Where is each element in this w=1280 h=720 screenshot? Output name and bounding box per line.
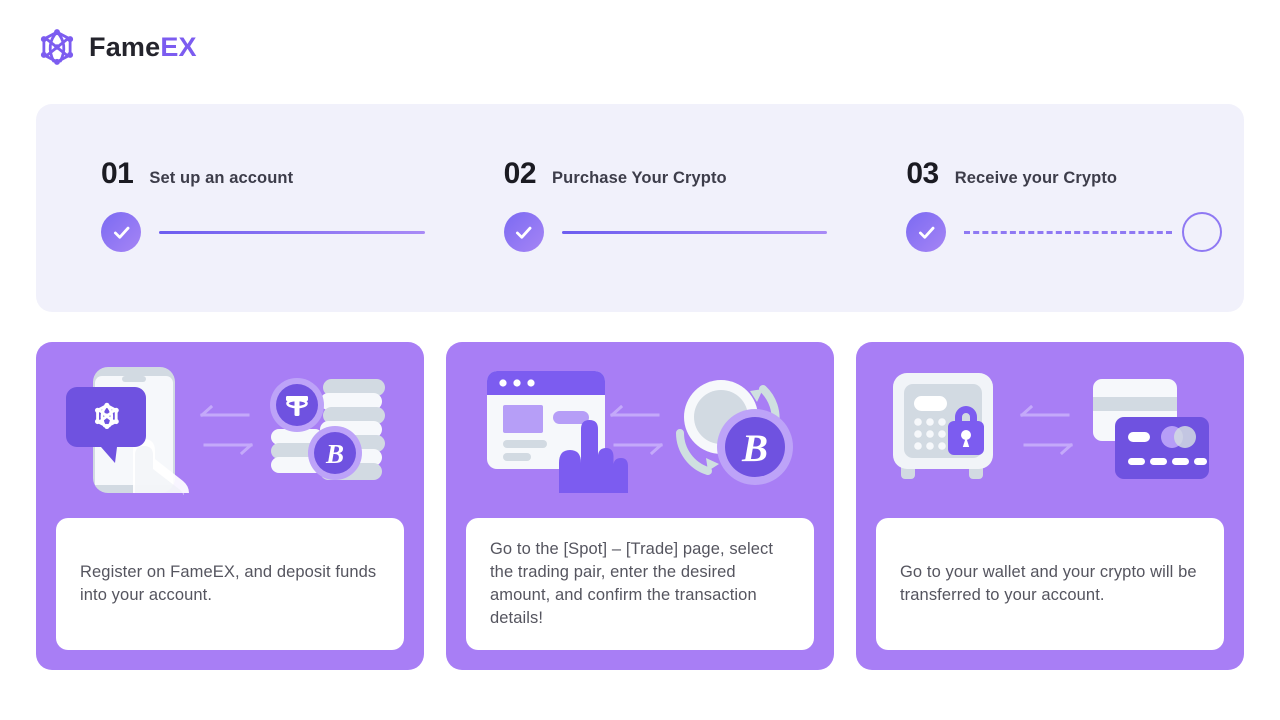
brand-name: FameEX: [89, 34, 197, 61]
step-01[interactable]: 01 Set up an account: [36, 104, 439, 312]
check-icon: [906, 212, 946, 252]
card-step-02-text: Go to the [Spot] – [Trade] page, select …: [490, 538, 790, 629]
card-step-01-note: Register on FameEX, and deposit funds in…: [56, 518, 404, 650]
bitcoin-coin-icon: B: [308, 426, 362, 480]
bitcoin-coin-icon: B: [717, 409, 793, 485]
step-03-number: 03: [906, 157, 938, 191]
step-01-connector: [159, 231, 425, 234]
step-03-track: [906, 212, 1244, 252]
step-03[interactable]: 03 Receive your Crypto: [841, 104, 1244, 312]
step-02-title: Purchase Your Crypto: [552, 169, 727, 188]
exchange-arrows-icon: [202, 407, 251, 453]
step-01-header: 01 Set up an account: [101, 157, 293, 191]
progress-steps-panel: 01 Set up an account 02 Purchase Your: [36, 104, 1244, 312]
card-step-02[interactable]: B Go to the [Spot] – [Trade] page, selec…: [446, 342, 834, 670]
infographic-page: FameEX 01 Set up an account: [0, 0, 1280, 720]
exchange-arrows-icon: [612, 407, 661, 453]
step-01-number: 01: [101, 157, 133, 191]
step-02-header: 02 Purchase Your Crypto: [504, 157, 727, 191]
card-step-02-note: Go to the [Spot] – [Trade] page, select …: [466, 518, 814, 650]
svg-text:B: B: [325, 439, 344, 469]
card-step-01-text: Register on FameEX, and deposit funds in…: [80, 561, 380, 607]
step-03-connector: [964, 231, 1172, 234]
fameex-network-logo-icon: [36, 26, 78, 68]
step-02[interactable]: 02 Purchase Your Crypto: [439, 104, 842, 312]
credit-card-icon: [1115, 417, 1209, 479]
card-step-03-text: Go to your wallet and your crypto will b…: [900, 561, 1200, 607]
step-03-header: 03 Receive your Crypto: [906, 157, 1117, 191]
safe-vault-lock-credit-cards-illustration: [856, 342, 1244, 518]
tether-coin-icon: [270, 378, 324, 432]
card-step-01[interactable]: B Register on FameEX, and deposit funds …: [36, 342, 424, 670]
phone-hand-chat-bubble-coins-illustration: B: [36, 342, 424, 518]
svg-text:B: B: [741, 427, 768, 470]
exchange-arrows-icon: [1022, 407, 1071, 453]
step-02-connector: [562, 231, 828, 234]
pending-step-circle-icon: [1182, 212, 1222, 252]
card-step-03[interactable]: Go to your wallet and your crypto will b…: [856, 342, 1244, 670]
step-01-track: [101, 212, 439, 252]
browser-window-pointer-swap-bitcoin-illustration: B: [446, 342, 834, 518]
brand-logo[interactable]: FameEX: [36, 26, 197, 68]
step-02-number: 02: [504, 157, 536, 191]
check-icon: [101, 212, 141, 252]
brand-name-ex: EX: [160, 32, 196, 62]
steps-row: 01 Set up an account 02 Purchase Your: [36, 104, 1244, 312]
brand-name-fame: Fame: [89, 32, 160, 62]
step-01-title: Set up an account: [149, 169, 293, 188]
step-03-title: Receive your Crypto: [955, 169, 1117, 188]
check-icon: [504, 212, 544, 252]
step-02-track: [504, 212, 842, 252]
steps-cards: B Register on FameEX, and deposit funds …: [36, 342, 1244, 670]
card-step-03-note: Go to your wallet and your crypto will b…: [876, 518, 1224, 650]
